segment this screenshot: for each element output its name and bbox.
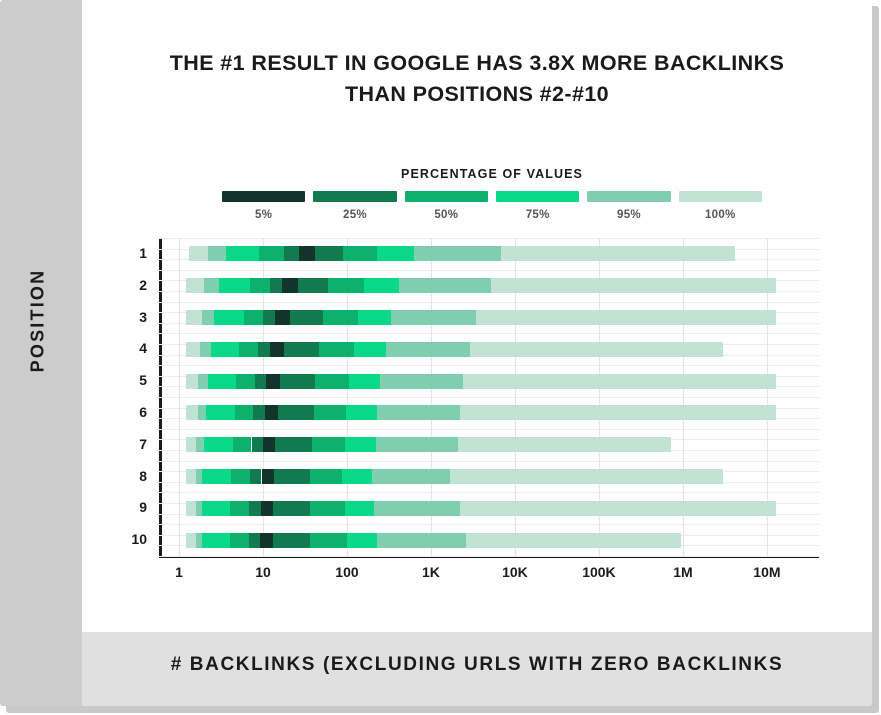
bar-segment-p50 (233, 437, 251, 452)
legend-swatch (405, 191, 488, 202)
bar-segment-p95 (200, 342, 210, 357)
bar-segment-p75 (202, 501, 230, 516)
bar-row[interactable] (159, 533, 819, 548)
bar-row[interactable] (159, 437, 819, 452)
bar-segment-p95 (391, 310, 476, 325)
legend-label: 25% (313, 209, 396, 221)
y-tick-label: 4 (107, 340, 147, 356)
bar-segment-p95 (377, 533, 465, 548)
bar-segment-p100 (501, 246, 735, 261)
bar-segment-p75 (219, 278, 250, 293)
y-tick-label: 2 (107, 277, 147, 293)
bar-segment-p75 (202, 469, 231, 484)
x-tick-label: 100K (569, 564, 629, 580)
bar-segment-p50 (230, 501, 249, 516)
y-tick-label: 3 (107, 309, 147, 325)
y-axis-title: POSITION (28, 221, 49, 421)
legend-item: 5% (222, 191, 305, 221)
bar-segment-p95 (196, 437, 204, 452)
bar-row[interactable] (159, 405, 819, 420)
bar-segment-p25 (280, 374, 315, 389)
bar-segment-p50 (323, 310, 358, 325)
legend-item: 75% (496, 191, 579, 221)
bar-segment-p100 (476, 310, 777, 325)
bar-segment-p50 (250, 278, 270, 293)
x-tick-label: 10K (485, 564, 545, 580)
bar-segment-p25 (290, 310, 323, 325)
y-tick-label: 9 (107, 499, 147, 515)
bar-segment-p75 (202, 533, 230, 548)
x-tick-label: 1M (653, 564, 713, 580)
plot-area: 1101001K10K100K1M10M12345678910 (159, 238, 819, 556)
bar-segment-p50 (239, 342, 258, 357)
bar-segment-p25 (315, 246, 343, 261)
bar-segment-p100 (491, 278, 776, 293)
bar-segment-p95 (414, 246, 501, 261)
bar-segment-p25 (252, 437, 263, 452)
bar-segment-p5 (262, 469, 274, 484)
bar-segment-p95 (198, 374, 207, 389)
legend-item: 95% (587, 191, 670, 221)
bar-segment-p100 (186, 501, 196, 516)
bar-segment-p100 (458, 437, 671, 452)
x-axis-band: # BACKLINKS (EXCLUDING URLS WITH ZERO BA… (82, 632, 872, 706)
y-tick-label: 8 (107, 468, 147, 484)
y-tick-label: 5 (107, 372, 147, 388)
bar-segment-p100 (466, 533, 681, 548)
bar-row[interactable] (159, 278, 819, 293)
bar-segment-p50 (312, 437, 346, 452)
chart-canvas: THE #1 RESULT IN GOOGLE HAS 3.8X MORE BA… (82, 0, 872, 632)
bar-row[interactable] (159, 246, 819, 261)
bar-segment-p95 (204, 278, 219, 293)
bar-segment-p25 (275, 437, 311, 452)
bar-row[interactable] (159, 374, 819, 389)
bar-segment-p25 (298, 278, 329, 293)
chart-title: THE #1 RESULT IN GOOGLE HAS 3.8X MORE BA… (112, 48, 842, 110)
bar-segment-p100 (186, 469, 196, 484)
y-tick-label: 6 (107, 404, 147, 420)
bar-segment-p95 (208, 246, 226, 261)
bar-segment-p75 (342, 469, 372, 484)
bar-segment-p75 (345, 437, 375, 452)
bar-segment-p75 (214, 310, 245, 325)
bar-segment-p50 (328, 278, 364, 293)
bar-segment-p75 (206, 405, 235, 420)
bar-segment-p5 (266, 374, 280, 389)
bar-segment-p50 (236, 374, 255, 389)
bar-segment-p50 (231, 469, 250, 484)
bar-segment-p25 (274, 469, 310, 484)
bar-segment-p100 (450, 469, 723, 484)
bar-segment-p5 (299, 246, 315, 261)
bar-segment-p25 (253, 405, 265, 420)
x-tick-label: 10M (737, 564, 797, 580)
legend-swatch (587, 191, 670, 202)
bar-segment-p100 (186, 437, 196, 452)
gridline-horizontal (159, 397, 819, 398)
legend-items: 5%25%50%75%95%100% (222, 191, 762, 221)
bar-segment-p100 (186, 310, 203, 325)
bar-segment-p50 (310, 501, 345, 516)
x-tick-label: 1 (149, 564, 209, 580)
bar-segment-p50 (230, 533, 248, 548)
bar-segment-p100 (186, 405, 199, 420)
y-tick-label: 7 (107, 436, 147, 452)
bar-segment-p100 (186, 342, 201, 357)
bar-row[interactable] (159, 342, 819, 357)
gridline-horizontal (159, 333, 819, 334)
bar-segment-p50 (259, 246, 284, 261)
gridline-horizontal (159, 524, 819, 525)
bar-segment-p50 (315, 374, 348, 389)
x-axis-title: # BACKLINKS (EXCLUDING URLS WITH ZERO BA… (82, 654, 872, 676)
bar-segment-p100 (186, 374, 199, 389)
chart-title-line-2: THAN POSITIONS #2-#10 (112, 79, 842, 110)
bar-segment-p75 (349, 374, 381, 389)
bar-segment-p5 (282, 278, 297, 293)
bar-segment-p100 (460, 501, 777, 516)
bar-segment-p25 (249, 533, 260, 548)
gridline-horizontal (159, 492, 819, 493)
bar-segment-p100 (186, 278, 205, 293)
bar-row[interactable] (159, 310, 819, 325)
chart-card: THE #1 RESULT IN GOOGLE HAS 3.8X MORE BA… (0, 0, 872, 706)
bar-segment-p25 (278, 405, 314, 420)
bar-segment-p75 (208, 374, 236, 389)
x-tick-label: 10 (233, 564, 293, 580)
bar-segment-p75 (345, 501, 374, 516)
bar-segment-p5 (270, 342, 285, 357)
bar-segment-p95 (399, 278, 491, 293)
bar-segment-p5 (260, 533, 272, 548)
gridline-horizontal (159, 461, 819, 462)
bar-segment-p75 (226, 246, 259, 261)
legend-label: 100% (679, 209, 762, 221)
bar-segment-p25 (273, 501, 310, 516)
bar-segment-p50 (343, 246, 377, 261)
x-tick-label: 100 (317, 564, 377, 580)
bar-segment-p25 (255, 374, 267, 389)
bar-segment-p25 (284, 342, 318, 357)
bar-segment-p50 (319, 342, 354, 357)
bar-segment-p50 (310, 469, 343, 484)
bar-segment-p5 (261, 501, 273, 516)
y-axis-band: POSITION (0, 0, 82, 706)
legend-item: 25% (313, 191, 396, 221)
legend-label: 50% (405, 209, 488, 221)
legend-title: PERCENTAGE OF VALUES (222, 167, 762, 181)
bar-segment-p25 (284, 246, 299, 261)
legend-swatch (496, 191, 579, 202)
gridline-horizontal (159, 429, 819, 430)
bar-segment-p100 (460, 405, 777, 420)
bar-segment-p25 (270, 278, 283, 293)
bar-segment-p5 (265, 405, 278, 420)
bar-segment-p100 (186, 533, 196, 548)
bar-segment-p100 (463, 374, 777, 389)
chart-legend: PERCENTAGE OF VALUES 5%25%50%75%95%100% (222, 167, 762, 221)
bar-segment-p50 (235, 405, 253, 420)
bar-segment-p25 (258, 342, 269, 357)
bar-segment-p25 (249, 501, 260, 516)
bar-segment-p95 (377, 405, 459, 420)
bar-segment-p95 (202, 310, 213, 325)
gridline-horizontal (159, 270, 819, 271)
bar-segment-p5 (263, 437, 275, 452)
bar-segment-p95 (386, 342, 470, 357)
bar-segment-p95 (372, 469, 450, 484)
bar-segment-p75 (364, 278, 399, 293)
bar-segment-p25 (263, 310, 275, 325)
bar-segment-p50 (244, 310, 263, 325)
y-tick-label: 10 (107, 531, 147, 547)
gridline-horizontal (159, 556, 819, 557)
bar-segment-p25 (273, 533, 310, 548)
bar-segment-p75 (347, 533, 377, 548)
legend-swatch (679, 191, 762, 202)
bar-segment-p95 (198, 405, 206, 420)
bar-row[interactable] (159, 469, 819, 484)
bar-segment-p5 (275, 310, 290, 325)
legend-label: 95% (587, 209, 670, 221)
bar-segment-p75 (346, 405, 377, 420)
bar-segment-p50 (314, 405, 347, 420)
bar-segment-p100 (189, 246, 208, 261)
legend-label: 5% (222, 209, 305, 221)
gridline-horizontal (159, 238, 819, 239)
bar-row[interactable] (159, 501, 819, 516)
gridline-horizontal (159, 365, 819, 366)
bar-segment-p75 (211, 342, 239, 357)
bar-segment-p75 (354, 342, 386, 357)
chart-page: THE #1 RESULT IN GOOGLE HAS 3.8X MORE BA… (0, 0, 881, 715)
x-tick-label: 1K (401, 564, 461, 580)
legend-swatch (313, 191, 396, 202)
legend-item: 50% (405, 191, 488, 221)
bar-segment-p25 (250, 469, 262, 484)
y-tick-label: 1 (107, 245, 147, 261)
gridline-horizontal (159, 302, 819, 303)
bar-segment-p75 (204, 437, 233, 452)
bar-segment-p100 (470, 342, 723, 357)
bar-segment-p50 (310, 533, 347, 548)
bar-segment-p95 (380, 374, 463, 389)
legend-swatch (222, 191, 305, 202)
legend-label: 75% (496, 209, 579, 221)
bar-segment-p75 (377, 246, 413, 261)
bar-segment-p95 (376, 437, 458, 452)
legend-item: 100% (679, 191, 762, 221)
bar-segment-p75 (358, 310, 391, 325)
bar-segment-p95 (374, 501, 460, 516)
chart-title-line-1: THE #1 RESULT IN GOOGLE HAS 3.8X MORE BA… (112, 48, 842, 79)
